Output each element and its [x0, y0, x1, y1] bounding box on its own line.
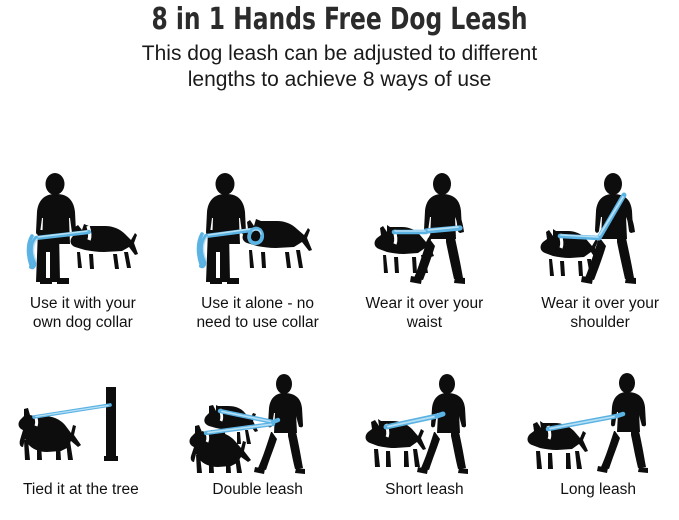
illustration-person-walking-dog-short-leash — [340, 372, 510, 476]
person-silhouette — [206, 173, 246, 284]
panel-wear-over-waist: Wear it over your waist — [340, 170, 510, 350]
illustration-person-walking-leash-across-shoulder-with-dog — [509, 170, 679, 288]
panel-use-alone-no-collar: Use it alone - no need to use collar — [170, 170, 340, 350]
page-title: 8 in 1 Hands Free Dog Leash — [75, 0, 605, 36]
panel-short-leash: Short leash — [340, 372, 510, 520]
panel-caption: Long leash — [560, 480, 636, 499]
caption-line-1: Short leash — [385, 480, 463, 499]
caption-line-1: Long leash — [560, 480, 636, 499]
person-silhouette — [597, 373, 648, 473]
panel-caption: Tied it at the tree — [23, 480, 139, 499]
panel-use-with-own-collar: Use it with your own dog collar — [0, 170, 170, 350]
caption-line-1: Use it alone - no — [196, 294, 318, 313]
caption-line-1: Tied it at the tree — [23, 480, 139, 499]
panel-row-top: Use it with your own dog collar — [0, 170, 679, 350]
panel-caption: Wear it over your shoulder — [541, 294, 659, 332]
panel-tied-at-tree: Tied it at the tree — [0, 372, 170, 520]
panel-row-bottom: Tied it at the tree — [0, 372, 679, 520]
illustration-person-standing-with-dog-on-collar-leash — [0, 170, 170, 288]
panel-caption: Double leash — [212, 480, 302, 499]
page-subtitle: This dog leash can be adjusted to differ… — [0, 36, 679, 93]
tree-post — [104, 387, 118, 461]
subtitle-line-2: lengths to achieve 8 ways of use — [0, 67, 679, 93]
caption-line-2: own dog collar — [30, 313, 136, 332]
caption-line-1: Use it with your — [30, 294, 136, 313]
product-infographic: 8 in 1 Hands Free Dog Leash This dog lea… — [0, 0, 679, 520]
caption-line-1: Wear it over your — [366, 294, 484, 313]
illustration-person-walking-dog-long-leash — [509, 372, 679, 476]
caption-line-2: waist — [366, 313, 484, 332]
dog-silhouette — [70, 224, 137, 269]
caption-line-2: shoulder — [541, 313, 659, 332]
panel-long-leash: Long leash — [509, 372, 679, 520]
illustration-person-standing-with-dog-leash-loop-no-collar — [170, 170, 340, 288]
illustration-dog-tied-to-tree-post — [0, 372, 170, 476]
caption-line-1: Wear it over your — [541, 294, 659, 313]
panel-caption: Use it with your own dog collar — [30, 294, 136, 332]
illustration-person-walking-leash-around-waist-with-dog — [340, 170, 510, 288]
panel-caption: Use it alone - no need to use collar — [196, 294, 318, 332]
panel-double-leash: Double leash — [170, 372, 340, 520]
panel-caption: Wear it over your waist — [366, 294, 484, 332]
illustration-person-walking-two-dogs-double-leash — [170, 372, 340, 476]
header: 8 in 1 Hands Free Dog Leash This dog lea… — [0, 0, 679, 93]
panel-caption: Short leash — [385, 480, 463, 499]
caption-line-1: Double leash — [212, 480, 302, 499]
panel-wear-over-shoulder: Wear it over your shoulder — [509, 170, 679, 350]
subtitle-line-1: This dog leash can be adjusted to differ… — [0, 41, 679, 67]
person-silhouette — [417, 374, 468, 474]
person-silhouette — [36, 173, 76, 284]
leash — [34, 405, 110, 417]
caption-line-2: need to use collar — [196, 313, 318, 332]
